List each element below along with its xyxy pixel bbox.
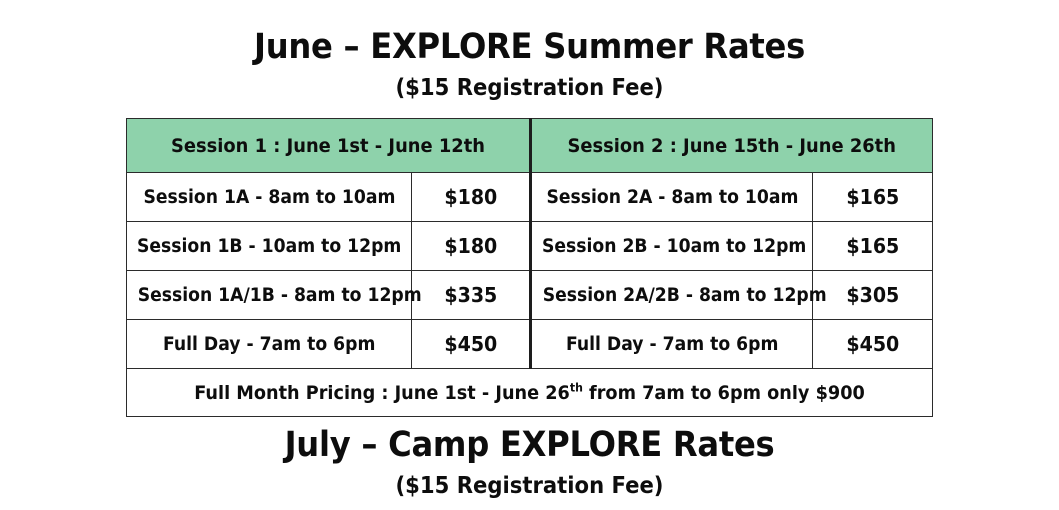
session-2a-price-cell: $165 — [813, 173, 933, 222]
full-day-2-price-cell: $450 — [813, 320, 933, 369]
full-month-pricing-row: Full Month Pricing : June 1st - June 26t… — [127, 369, 933, 417]
july-title: July – Camp EXPLORE Rates — [42, 428, 1016, 463]
session-2a-label: Session 2A - 8am to 10am — [546, 187, 798, 208]
table-row: Session 1A - 8am to 10am $180 Session 2A… — [127, 173, 933, 222]
header-session-1-label: Session 1 : June 1st - June 12th — [171, 135, 485, 157]
session-2a-price: $165 — [846, 185, 899, 209]
full-month-pricing-cell: Full Month Pricing : June 1st - June 26t… — [127, 369, 933, 417]
table-row: Session 1B - 10am to 12pm $180 Session 2… — [127, 222, 933, 271]
session-1a-price: $180 — [444, 185, 497, 209]
session-1ab-label: Session 1A/1B - 8am to 12pm — [138, 285, 422, 306]
session-1a-label: Session 1A - 8am to 10am — [143, 187, 395, 208]
table-header-row: Session 1 : June 1st - June 12th Session… — [127, 119, 933, 173]
session-1b-price-cell: $180 — [412, 222, 531, 271]
session-2ab-price: $305 — [846, 283, 899, 307]
session-2b-label-cell: Session 2B - 10am to 12pm — [531, 222, 813, 271]
full-day-1-price-cell: $450 — [412, 320, 531, 369]
june-heading-block: June – EXPLORE Summer Rates ($15 Registr… — [0, 30, 1059, 100]
session-1b-label: Session 1B - 10am to 12pm — [137, 236, 401, 257]
session-1b-label-cell: Session 1B - 10am to 12pm — [127, 222, 412, 271]
table-row: Session 1A/1B - 8am to 12pm $335 Session… — [127, 271, 933, 320]
session-2a-label-cell: Session 2A - 8am to 10am — [531, 173, 813, 222]
july-subtitle: ($15 Registration Fee) — [42, 475, 1016, 498]
session-1a-price-cell: $180 — [412, 173, 531, 222]
full-day-1-label-cell: Full Day - 7am to 6pm — [127, 320, 412, 369]
session-2ab-price-cell: $305 — [813, 271, 933, 320]
session-1ab-label-cell: Session 1A/1B - 8am to 12pm — [127, 271, 412, 320]
header-session-2-label: Session 2 : June 15th - June 26th — [568, 135, 896, 157]
session-1b-price: $180 — [444, 234, 497, 258]
full-month-text-before: Full Month Pricing : June 1st - June 26 — [194, 382, 570, 404]
full-day-2-label: Full Day - 7am to 6pm — [566, 334, 778, 355]
session-2b-price: $165 — [846, 234, 899, 258]
full-day-2-label-cell: Full Day - 7am to 6pm — [531, 320, 813, 369]
full-month-pricing-text: Full Month Pricing : June 1st - June 26t… — [194, 382, 865, 404]
session-1a-label-cell: Session 1A - 8am to 10am — [127, 173, 412, 222]
full-day-2-price: $450 — [846, 332, 899, 356]
full-day-1-label: Full Day - 7am to 6pm — [163, 334, 375, 355]
full-month-ordinal: th — [570, 380, 583, 394]
header-session-2: Session 2 : June 15th - June 26th — [531, 119, 933, 173]
table-row: Full Day - 7am to 6pm $450 Full Day - 7a… — [127, 320, 933, 369]
session-1ab-price: $335 — [444, 283, 497, 307]
header-session-1: Session 1 : June 1st - June 12th — [127, 119, 531, 173]
june-title: June – EXPLORE Summer Rates — [42, 30, 1016, 65]
full-month-text-after: from 7am to 6pm only $900 — [583, 382, 865, 404]
full-day-1-price: $450 — [444, 332, 497, 356]
session-1ab-price-cell: $335 — [412, 271, 531, 320]
session-2ab-label-cell: Session 2A/2B - 8am to 12pm — [531, 271, 813, 320]
session-2ab-label: Session 2A/2B - 8am to 12pm — [543, 285, 827, 306]
june-subtitle: ($15 Registration Fee) — [42, 77, 1016, 100]
session-2b-price-cell: $165 — [813, 222, 933, 271]
rates-flyer: June – EXPLORE Summer Rates ($15 Registr… — [0, 0, 1059, 510]
july-heading-block: July – Camp EXPLORE Rates ($15 Registrat… — [0, 428, 1059, 498]
session-2b-label: Session 2B - 10am to 12pm — [542, 236, 806, 257]
june-rates-table: Session 1 : June 1st - June 12th Session… — [126, 118, 933, 417]
